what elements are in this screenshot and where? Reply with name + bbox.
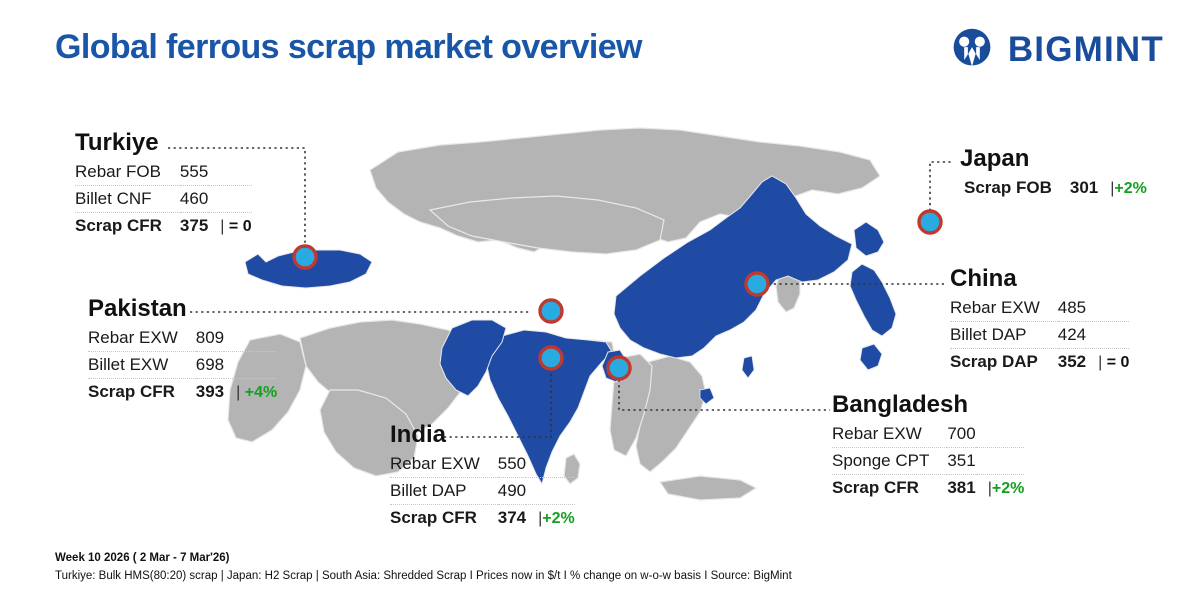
- price-label: Billet CNF: [75, 186, 180, 213]
- country-name-india: India: [390, 422, 575, 448]
- footer-week-label: Week 10 2026 ( 2 Mar - 7 Mar'26): [55, 552, 792, 564]
- price-label: Rebar EXW: [88, 325, 196, 352]
- change-text: +4%: [245, 384, 277, 401]
- country-card-japan: Japan Scrap FOB 301 |+2%: [960, 146, 1147, 201]
- price-label: Rebar EXW: [950, 295, 1058, 322]
- table-row: Rebar EXW 550: [390, 451, 575, 478]
- table-row: Scrap DAP 352 | = 0: [950, 349, 1129, 376]
- price-change: [526, 478, 575, 505]
- bigmint-logo-icon: [949, 26, 995, 72]
- footer-source-note: Turkiye: Bulk HMS(80:20) scrap | Japan: …: [55, 570, 792, 582]
- price-value: 301: [1070, 175, 1098, 201]
- price-label: Sponge CPT: [832, 448, 947, 475]
- price-label: Billet EXW: [88, 352, 196, 379]
- country-name-turkiye: Turkiye: [75, 130, 252, 156]
- country-turkiye: [245, 250, 372, 288]
- country-name-bangladesh: Bangladesh: [832, 392, 1024, 418]
- country-name-pakistan: Pakistan: [88, 296, 277, 322]
- table-row: Billet EXW 698: [88, 352, 277, 379]
- table-row: Billet DAP 424: [950, 322, 1129, 349]
- price-label: Billet DAP: [950, 322, 1058, 349]
- price-change: [224, 352, 277, 379]
- country-card-china: China Rebar EXW 485 Billet DAP 424 Scrap…: [950, 266, 1129, 375]
- price-change: | = 0: [208, 213, 251, 240]
- price-change: |+2%: [976, 475, 1025, 502]
- infographic-page: Global ferrous scrap market overview BIG…: [0, 0, 1200, 600]
- country-card-bangladesh: Bangladesh Rebar EXW 700 Sponge CPT 351 …: [832, 392, 1024, 501]
- price-change: | +4%: [224, 379, 277, 406]
- price-table-pakistan: Rebar EXW 809 Billet EXW 698 Scrap CFR 3…: [88, 325, 277, 405]
- price-label: Scrap CFR: [75, 213, 180, 240]
- price-value: 555: [180, 159, 208, 186]
- change-text: = 0: [229, 218, 252, 235]
- table-row: Billet DAP 490: [390, 478, 575, 505]
- price-label: Scrap CFR: [832, 475, 947, 502]
- price-change: [1086, 322, 1129, 349]
- table-row: Rebar EXW 700: [832, 421, 1024, 448]
- country-japan: [850, 222, 896, 370]
- price-label: Scrap CFR: [390, 505, 498, 532]
- price-change: |+2%: [1098, 175, 1147, 201]
- price-label: Scrap FOB: [964, 175, 1070, 201]
- price-value: 485: [1058, 295, 1086, 322]
- change-text: +2%: [992, 480, 1024, 497]
- price-value: 809: [196, 325, 224, 352]
- table-row: Billet CNF 460: [75, 186, 252, 213]
- brand-name: BIGMINT: [1008, 32, 1164, 67]
- price-value: 460: [180, 186, 208, 213]
- price-change: [208, 186, 251, 213]
- table-row: Rebar EXW 485: [950, 295, 1129, 322]
- price-change: |+2%: [526, 505, 575, 532]
- table-row: Scrap CFR 375 | = 0: [75, 213, 252, 240]
- price-change: [1086, 295, 1129, 322]
- price-table-bangladesh: Rebar EXW 700 Sponge CPT 351 Scrap CFR 3…: [832, 421, 1024, 501]
- price-value: 550: [498, 451, 526, 478]
- table-row: Scrap CFR 393 | +4%: [88, 379, 277, 406]
- table-row: Rebar EXW 809: [88, 325, 277, 352]
- price-table-china: Rebar EXW 485 Billet DAP 424 Scrap DAP 3…: [950, 295, 1129, 375]
- price-value: 424: [1058, 322, 1086, 349]
- table-row: Scrap FOB 301 |+2%: [964, 175, 1147, 201]
- price-value: 374: [498, 505, 526, 532]
- country-card-india: India Rebar EXW 550 Billet DAP 490 Scrap…: [390, 422, 575, 531]
- price-table-india: Rebar EXW 550 Billet DAP 490 Scrap CFR 3…: [390, 451, 575, 531]
- price-table-turkiye: Rebar FOB 555 Billet CNF 460 Scrap CFR 3…: [75, 159, 252, 239]
- footer: Week 10 2026 ( 2 Mar - 7 Mar'26) Turkiye…: [55, 552, 792, 582]
- price-label: Rebar EXW: [832, 421, 947, 448]
- price-label: Scrap DAP: [950, 349, 1058, 376]
- brand-logo: BIGMINT: [949, 26, 1164, 72]
- country-card-turkiye: Turkiye Rebar FOB 555 Billet CNF 460 Scr…: [75, 130, 252, 239]
- landmass-indonesia-grey: [660, 476, 756, 500]
- price-change: [976, 448, 1025, 475]
- change-text: = 0: [1107, 354, 1130, 371]
- price-change: [526, 451, 575, 478]
- price-value: 351: [947, 448, 975, 475]
- price-table-japan: Scrap FOB 301 |+2%: [964, 175, 1147, 201]
- table-row: Scrap CFR 381 |+2%: [832, 475, 1024, 502]
- page-title: Global ferrous scrap market overview: [55, 28, 642, 67]
- country-name-china: China: [950, 266, 1129, 292]
- price-value: 381: [947, 475, 975, 502]
- table-row: Sponge CPT 351: [832, 448, 1024, 475]
- price-label: Scrap CFR: [88, 379, 196, 406]
- price-label: Rebar FOB: [75, 159, 180, 186]
- price-label: Rebar EXW: [390, 451, 498, 478]
- change-text: +2%: [542, 510, 574, 527]
- price-value: 352: [1058, 349, 1086, 376]
- price-value: 698: [196, 352, 224, 379]
- table-row: Rebar FOB 555: [75, 159, 252, 186]
- price-change: [976, 421, 1025, 448]
- price-change: [224, 325, 277, 352]
- price-change: [208, 159, 251, 186]
- country-name-japan: Japan: [960, 146, 1147, 172]
- country-taiwan: [742, 356, 754, 378]
- price-label: Billet DAP: [390, 478, 498, 505]
- country-card-pakistan: Pakistan Rebar EXW 809 Billet EXW 698 Sc…: [88, 296, 277, 405]
- change-text: +2%: [1114, 180, 1146, 197]
- price-value: 375: [180, 213, 208, 240]
- price-value: 393: [196, 379, 224, 406]
- table-row: Scrap CFR 374 |+2%: [390, 505, 575, 532]
- price-value: 700: [947, 421, 975, 448]
- price-value: 490: [498, 478, 526, 505]
- price-change: | = 0: [1086, 349, 1129, 376]
